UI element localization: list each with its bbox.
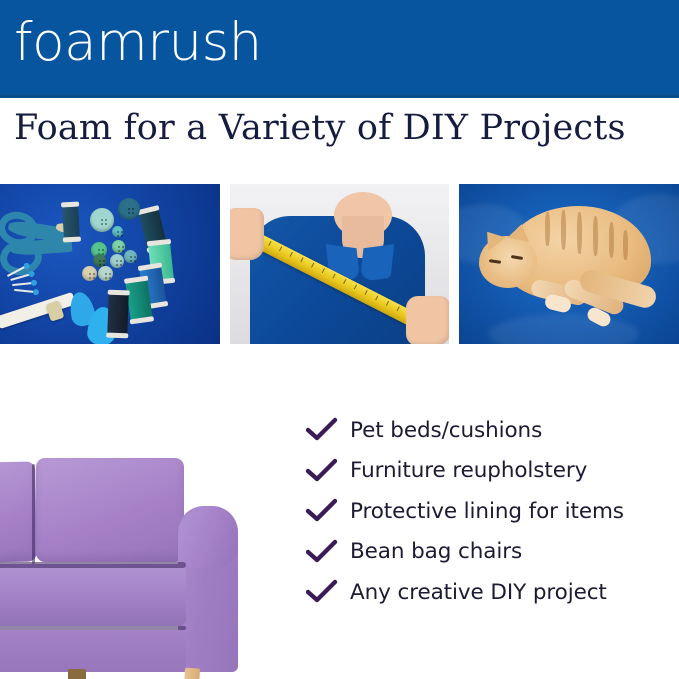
cat-stripe <box>623 230 628 260</box>
sofa-base <box>0 630 186 672</box>
benefit-item: Any creative DIY project <box>306 572 676 613</box>
cat-on-cushion-photo <box>459 184 679 344</box>
check-icon <box>306 458 350 484</box>
cat-stripe <box>545 212 550 246</box>
tape-measure-photo <box>230 184 450 344</box>
check-icon <box>306 579 350 605</box>
sofa-back-cushion-right <box>36 458 184 562</box>
brand-logo: foamrush <box>14 16 262 69</box>
cat-stripe <box>577 212 582 254</box>
check-icon <box>306 498 350 524</box>
sofa-seat-shadow <box>0 562 186 568</box>
button-icon <box>98 266 113 281</box>
shirt-collar-right <box>359 244 393 282</box>
sofa-back-crease <box>32 464 35 564</box>
thread-spool-icon <box>62 204 80 241</box>
sofa-leg-back <box>68 669 86 679</box>
button-icon <box>90 208 114 232</box>
zipper-icon <box>0 292 76 329</box>
button-icon <box>112 240 125 253</box>
sofa-seat-cushion <box>0 564 186 626</box>
cushion-fold <box>489 314 639 344</box>
sewing-pin-icon <box>14 289 36 293</box>
person-left-hand <box>230 208 264 260</box>
cat-stripe <box>593 216 598 256</box>
sewing-supplies-photo <box>0 184 220 344</box>
sofa-arm-roll <box>178 506 238 568</box>
sofa-leg-front <box>183 668 200 679</box>
benefit-list: Pet beds/cushions Furniture reupholstery… <box>306 410 676 613</box>
benefit-label: Any creative DIY project <box>350 580 607 605</box>
benefit-item: Protective lining for items <box>306 491 676 532</box>
check-icon <box>306 417 350 443</box>
benefit-item: Bean bag chairs <box>306 532 676 573</box>
purple-sofa-illustration <box>0 440 262 679</box>
benefit-label: Pet beds/cushions <box>350 418 542 443</box>
benefit-label: Furniture reupholstery <box>350 458 587 483</box>
button-icon <box>82 266 97 281</box>
cat-stripe <box>609 222 614 258</box>
page-title: Foam for a Variety of DIY Projects <box>14 108 674 148</box>
benefit-item: Pet beds/cushions <box>306 410 676 451</box>
person-right-hand <box>406 296 450 344</box>
brand-banner: foamrush <box>0 0 679 98</box>
product-feature-graphic: foamrush Foam for a Variety of DIY Proje… <box>0 0 679 679</box>
benefit-label: Protective lining for items <box>350 499 624 524</box>
photo-strip <box>0 184 679 344</box>
sewing-pin-icon <box>12 282 34 286</box>
thread-spool-icon <box>107 292 129 337</box>
benefit-label: Bean bag chairs <box>350 539 522 564</box>
button-icon <box>110 254 124 268</box>
button-icon <box>118 198 140 220</box>
button-icon <box>112 226 123 237</box>
button-icon <box>124 250 137 263</box>
sofa-base-crease <box>0 626 186 630</box>
check-icon <box>306 539 350 565</box>
cat-stripe <box>561 210 566 250</box>
benefit-item: Furniture reupholstery <box>306 451 676 492</box>
